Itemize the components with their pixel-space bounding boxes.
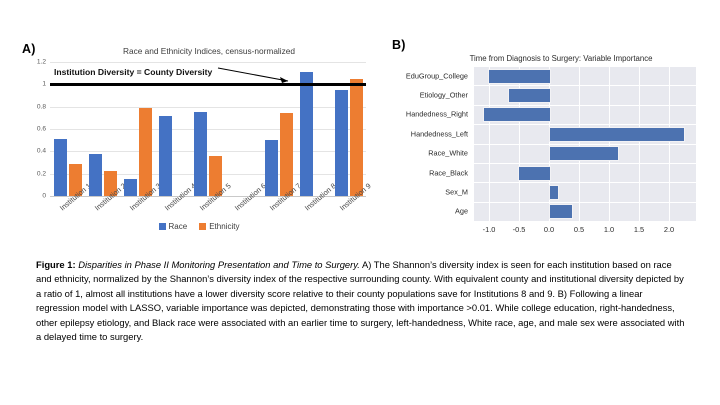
panel-b-letter: B) — [392, 38, 406, 52]
legend-label-race: Race — [169, 222, 188, 231]
chart-b-plot-area: -1.0-0.50.00.51.01.52.0EduGroup_CollegeE… — [474, 66, 696, 221]
chart-b-xtick: 1.5 — [634, 225, 644, 234]
chart-b-bar — [549, 146, 619, 161]
legend-item-race: Race — [159, 222, 188, 231]
chart-a-ytick: 0 — [42, 193, 46, 200]
chart-b-bar — [549, 185, 559, 200]
legend-item-ethnicity: Ethnicity — [199, 222, 239, 231]
panel-a: A) Race and Ethnicity Indices, census-no… — [14, 36, 384, 246]
chart-a-bar-group: Institution 9 — [331, 62, 366, 196]
caption-title: Disparities in Phase II Monitoring Prese… — [78, 259, 360, 270]
chart-a-bar-race — [124, 179, 137, 196]
diversity-reference-line — [50, 83, 366, 86]
chart-b-ytick: Age — [455, 207, 468, 216]
chart-b-hgridline — [474, 202, 696, 203]
chart-a-bar-group: Institution 4 — [155, 62, 190, 196]
chart-a-bar-ethnicity — [280, 113, 293, 196]
chart-a-ytick: 1 — [42, 81, 46, 88]
chart-a-bar-race — [300, 72, 313, 196]
chart-b-xtick: -0.5 — [513, 225, 526, 234]
annotation-arrow-icon — [218, 66, 296, 86]
chart-a-ytick: 0.4 — [37, 148, 46, 155]
chart-a-bar-race — [265, 140, 278, 196]
chart-a-bar-group: Institution 2 — [85, 62, 120, 196]
figure-image: A) Race and Ethnicity Indices, census-no… — [0, 0, 720, 246]
legend-swatch-race — [159, 223, 166, 230]
chart-a-legend: Race Ethnicity — [14, 222, 384, 231]
chart-b-hgridline — [474, 124, 696, 125]
chart-a-bar-group: Institution 3 — [120, 62, 155, 196]
legend-label-ethnicity: Ethnicity — [209, 222, 239, 231]
chart-b-ytick: Sex_M — [445, 187, 468, 196]
chart-b-xtick: 1.0 — [604, 225, 614, 234]
chart-a-ytick: 0.6 — [37, 126, 46, 133]
chart-a-bar-race — [54, 139, 67, 196]
chart-b-ytick: Race_Black — [429, 168, 468, 177]
chart-b-xtick: 0.0 — [544, 225, 554, 234]
chart-a-bar-ethnicity — [350, 79, 363, 196]
chart-b-bar — [549, 204, 573, 219]
chart-b-hgridline — [474, 105, 696, 106]
chart-a-ytick: 0.8 — [37, 103, 46, 110]
chart-a-bar-race — [159, 116, 172, 196]
chart-b-bar — [518, 166, 551, 181]
figure-caption: Figure 1: Disparities in Phase II Monito… — [36, 258, 688, 344]
chart-b-hgridline — [474, 182, 696, 183]
chart-b-xtick: -1.0 — [483, 225, 496, 234]
chart-a-bar-ethnicity — [139, 108, 152, 196]
chart-b-vgridline — [489, 66, 490, 221]
chart-b-bar — [549, 127, 685, 142]
chart-b-hgridline — [474, 66, 696, 67]
chart-b-vgridline — [639, 66, 640, 221]
chart-a-bar-race — [194, 112, 207, 196]
chart-b-xtick: 0.5 — [574, 225, 584, 234]
chart-b-bar — [488, 69, 551, 84]
chart-a-bar-race — [335, 90, 348, 196]
chart-b-bar — [508, 88, 551, 103]
panel-a-letter: A) — [22, 42, 36, 56]
chart-b-hgridline — [474, 221, 696, 222]
chart-a-plot-area: 00.20.40.60.811.2Institution 1Institutio… — [50, 62, 366, 196]
chart-b-ytick: Handedness_Right — [406, 110, 468, 119]
caption-label: Figure 1: — [36, 259, 76, 270]
figure-page: A) Race and Ethnicity Indices, census-no… — [0, 0, 720, 405]
chart-b-ytick: Race_White — [428, 149, 468, 158]
chart-a-bar-group: Institution 1 — [50, 62, 85, 196]
chart-a-bar-race — [89, 154, 102, 196]
chart-a-title: Race and Ethnicity Indices, census-norma… — [84, 46, 334, 56]
chart-b-xtick: 2.0 — [664, 225, 674, 234]
legend-swatch-ethnicity — [199, 223, 206, 230]
chart-a-bar-group: Institution 8 — [296, 62, 331, 196]
caption-body: A) The Shannon’s diversity index is seen… — [36, 259, 684, 342]
chart-b-ytick: Handedness_Left — [411, 129, 468, 138]
chart-b-hgridline — [474, 144, 696, 145]
chart-b-vgridline — [609, 66, 610, 221]
chart-b-ytick: EduGroup_College — [406, 71, 468, 80]
diversity-reference-label: Institution Diversity = County Diversity — [54, 67, 212, 77]
chart-b-title: Time from Diagnosis to Surgery: Variable… — [406, 54, 716, 63]
chart-a-ytick: 1.2 — [37, 59, 46, 66]
panel-b: B) Time from Diagnosis to Surgery: Varia… — [386, 36, 716, 246]
chart-b-hgridline — [474, 163, 696, 164]
chart-a-ytick: 0.2 — [37, 170, 46, 177]
chart-b-vgridline — [579, 66, 580, 221]
chart-b-ytick: Etiology_Other — [420, 91, 468, 100]
chart-b-hgridline — [474, 85, 696, 86]
chart-b-bar — [483, 107, 551, 122]
chart-b-vgridline — [669, 66, 670, 221]
